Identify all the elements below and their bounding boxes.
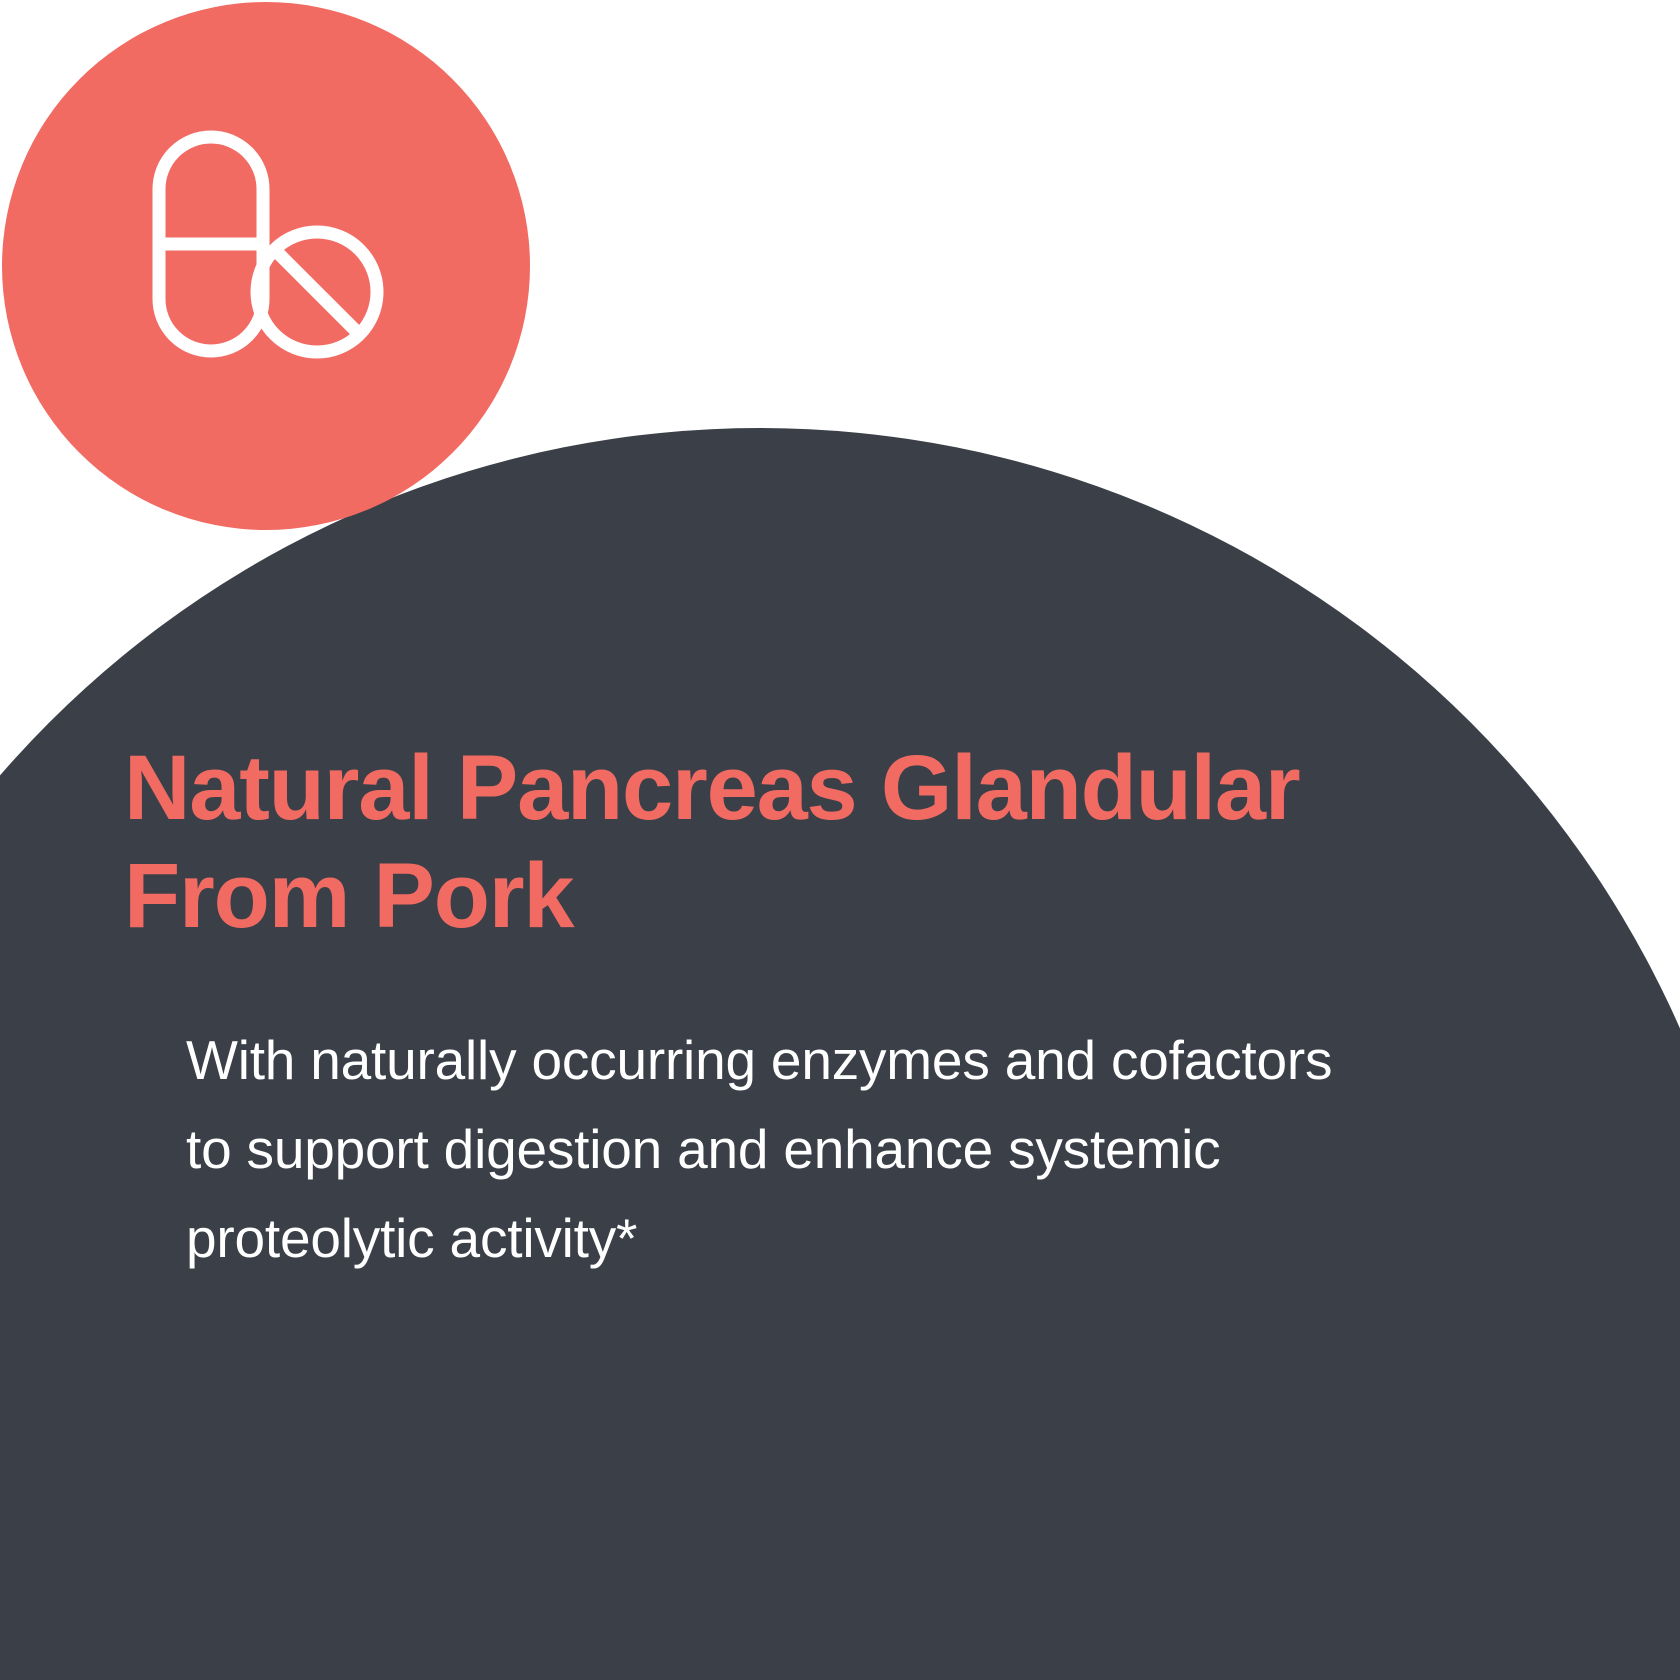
headline-line-2: From Pork xyxy=(124,845,573,947)
headline-line-1: Natural Pancreas Glandular xyxy=(124,737,1300,839)
description-line-3: proteolytic activity* xyxy=(186,1194,1506,1283)
description-line-1: With naturally occurring enzymes and cof… xyxy=(186,1016,1506,1105)
text-content: Natural Pancreas GlandularFrom Pork With… xyxy=(0,0,1680,1680)
description-text: With naturally occurring enzymes and cof… xyxy=(186,1016,1506,1283)
page-title: Natural Pancreas GlandularFrom Pork xyxy=(124,735,1524,950)
product-feature-card: Natural Pancreas GlandularFrom Pork With… xyxy=(0,0,1680,1680)
description-line-2: to support digestion and enhance systemi… xyxy=(186,1105,1506,1194)
